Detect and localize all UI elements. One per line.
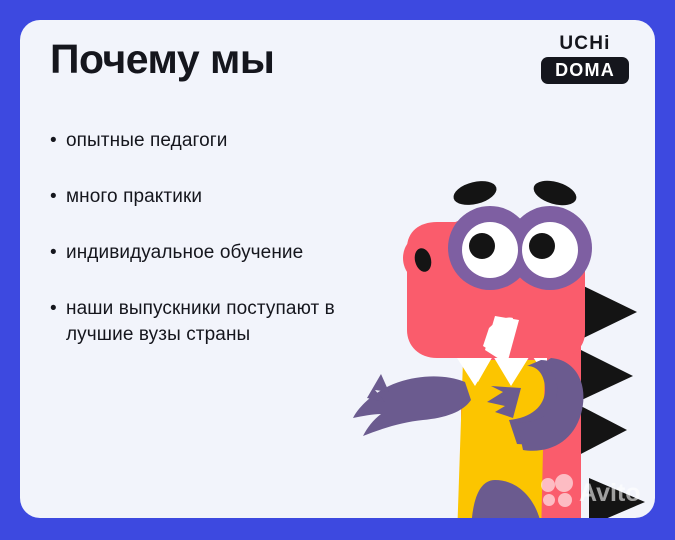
benefits-list: • опытные педагоги • много практики • ин…	[50, 128, 350, 378]
list-item: • наши выпускники поступают в лучшие вуз…	[50, 296, 350, 348]
list-item-label: много практики	[66, 184, 202, 210]
bullet-marker-icon: •	[50, 184, 66, 210]
page-title: Почему мы	[50, 36, 274, 83]
brand-logo: UCHi DOMA	[541, 34, 629, 84]
list-item: • опытные педагоги	[50, 128, 350, 154]
slide-frame: Почему мы • опытные педагоги • много пра…	[0, 0, 675, 540]
list-item: • индивидуальное обучение	[50, 240, 350, 266]
content-card: Почему мы • опытные педагоги • много пра…	[20, 20, 655, 518]
bullet-marker-icon: •	[50, 128, 66, 154]
list-item-label: наши выпускники поступают в лучшие вузы …	[66, 296, 350, 348]
list-item-label: индивидуальное обучение	[66, 240, 303, 266]
brand-logo-line1: UCHi	[541, 34, 629, 54]
bullet-marker-icon: •	[50, 296, 66, 322]
eyebrows-icon	[451, 176, 579, 209]
brand-logo-line2: DOMA	[541, 57, 629, 84]
dinosaur-mascot	[345, 160, 655, 518]
avito-watermark: Avito	[539, 474, 647, 508]
list-item-label: опытные педагоги	[66, 128, 228, 154]
avito-watermark-label: Avito	[579, 479, 641, 507]
list-item: • много практики	[50, 184, 350, 210]
bullet-marker-icon: •	[50, 240, 66, 266]
